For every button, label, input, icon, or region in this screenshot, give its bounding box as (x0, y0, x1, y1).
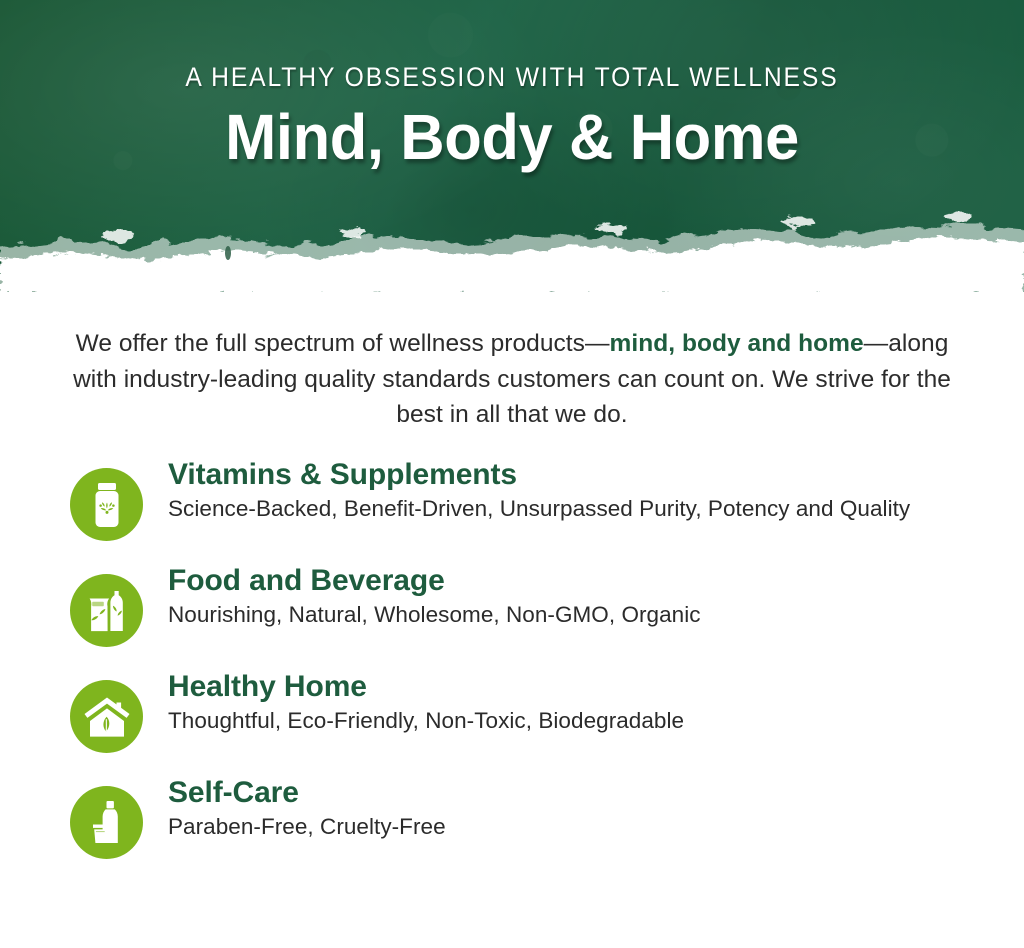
feature-title: Vitamins & Supplements (168, 457, 910, 492)
feature-text-block: Healthy Home Thoughtful, Eco-Friendly, N… (143, 667, 684, 737)
supplement-bottle-icon (70, 468, 143, 541)
feature-description: Thoughtful, Eco-Friendly, Non-Toxic, Bio… (168, 706, 684, 737)
feature-title: Healthy Home (168, 669, 684, 704)
feature-list: Vitamins & Supplements Science-Backed, B… (0, 455, 1024, 859)
feature-title: Food and Beverage (168, 563, 701, 598)
intro-text-part1: We offer the full spectrum of wellness p… (76, 330, 610, 357)
hero-banner: A HEALTHY OBSESSION WITH TOTAL WELLNESS … (0, 0, 1024, 292)
wellness-promo-page: A HEALTHY OBSESSION WITH TOTAL WELLNESS … (0, 0, 1024, 948)
feature-text-block: Food and Beverage Nourishing, Natural, W… (143, 561, 701, 631)
feature-description: Science-Backed, Benefit-Driven, Unsurpas… (168, 494, 910, 525)
feature-item-vitamins-supplements[interactable]: Vitamins & Supplements Science-Backed, B… (0, 455, 1024, 541)
intro-highlight: mind, body and home (610, 330, 864, 357)
house-with-leaf-icon (70, 680, 143, 753)
lotion-bottle-and-jar-icon (70, 786, 143, 859)
feature-description: Paraben-Free, Cruelty-Free (168, 812, 446, 843)
feature-item-healthy-home[interactable]: Healthy Home Thoughtful, Eco-Friendly, N… (0, 667, 1024, 753)
intro-paragraph: We offer the full spectrum of wellness p… (72, 292, 952, 433)
hero-title: Mind, Body & Home (20, 103, 1003, 172)
feature-text-block: Vitamins & Supplements Science-Backed, B… (143, 455, 910, 525)
feature-title: Self-Care (168, 775, 446, 810)
hero-text-block: A HEALTHY OBSESSION WITH TOTAL WELLNESS … (0, 64, 1024, 172)
feature-text-block: Self-Care Paraben-Free, Cruelty-Free (143, 773, 446, 843)
feature-description: Nourishing, Natural, Wholesome, Non-GMO,… (168, 600, 701, 631)
hero-eyebrow: A HEALTHY OBSESSION WITH TOTAL WELLNESS (36, 64, 988, 91)
food-pouch-and-bottle-icon (70, 574, 143, 647)
feature-item-food-beverage[interactable]: Food and Beverage Nourishing, Natural, W… (0, 561, 1024, 647)
feature-item-self-care[interactable]: Self-Care Paraben-Free, Cruelty-Free (0, 773, 1024, 859)
